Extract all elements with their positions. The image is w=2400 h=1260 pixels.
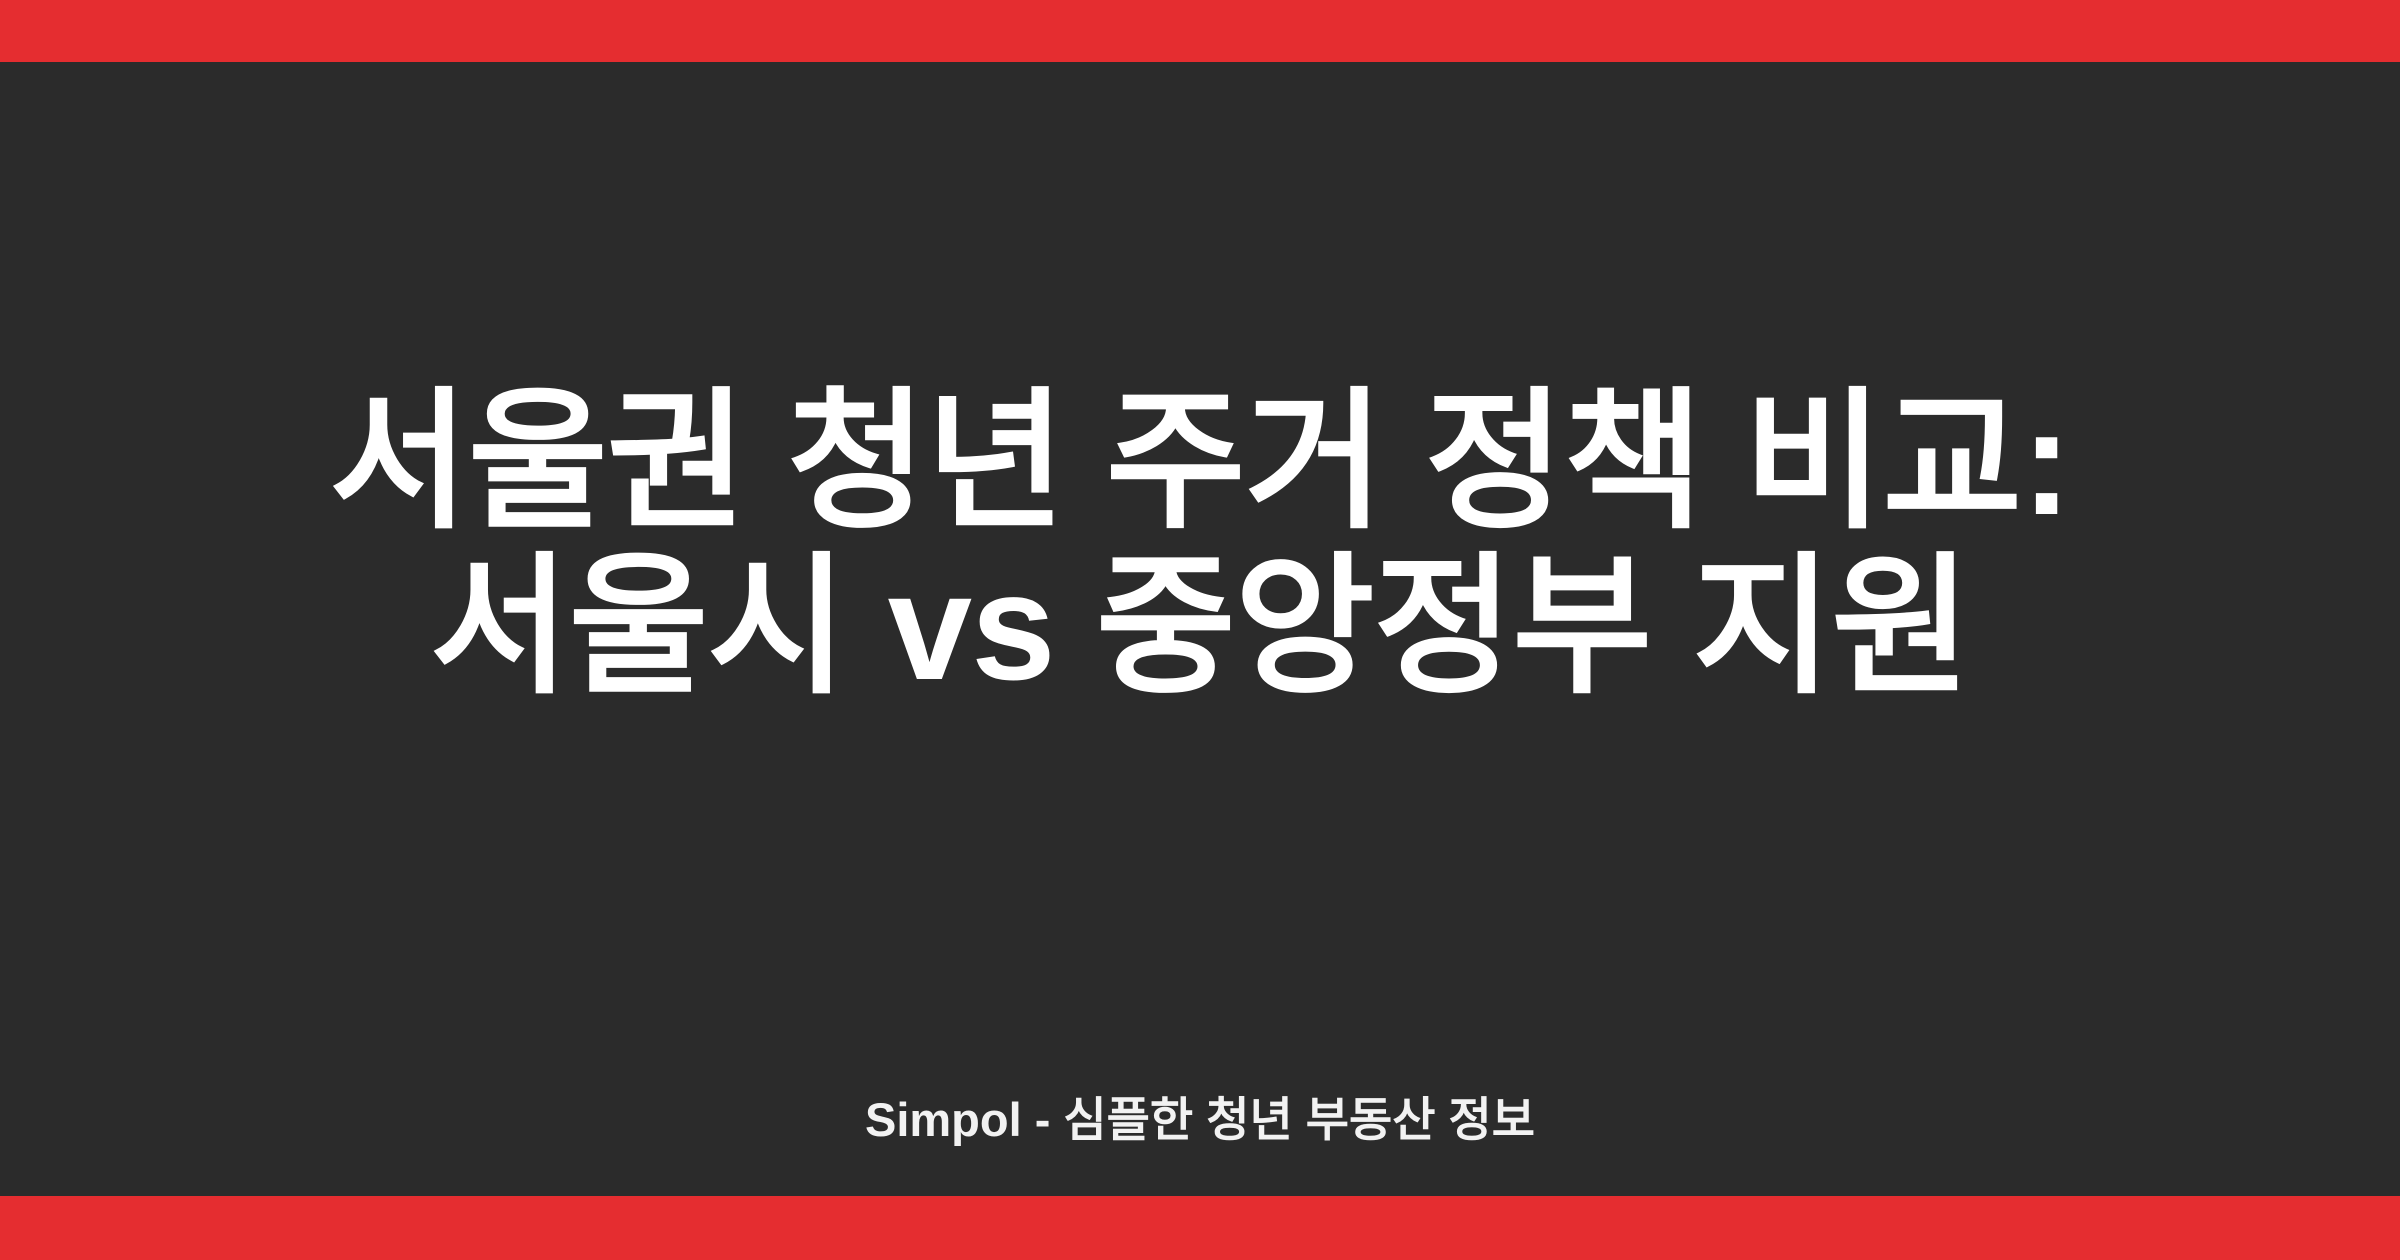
title-slide: 서울권 청년 주거 정책 비교: 서울시 vs 중앙정부 지원 Simpol -… — [0, 0, 2400, 1260]
footer-branding-text: Simpol - 심플한 청년 부동산 정보 — [865, 1092, 1535, 1148]
top-accent-bar — [0, 0, 2400, 62]
page-title: 서울권 청년 주거 정책 비교: 서울시 vs 중앙정부 지원 — [0, 380, 2400, 710]
slide-content-area: 서울권 청년 주거 정책 비교: 서울시 vs 중앙정부 지원 Simpol -… — [0, 62, 2400, 1196]
title-line-2: 서울시 vs 중앙정부 지원 — [0, 545, 2400, 710]
bottom-accent-bar — [0, 1196, 2400, 1260]
title-line-1: 서울권 청년 주거 정책 비교: — [0, 380, 2400, 545]
footer: Simpol - 심플한 청년 부동산 정보 — [0, 1092, 2400, 1148]
